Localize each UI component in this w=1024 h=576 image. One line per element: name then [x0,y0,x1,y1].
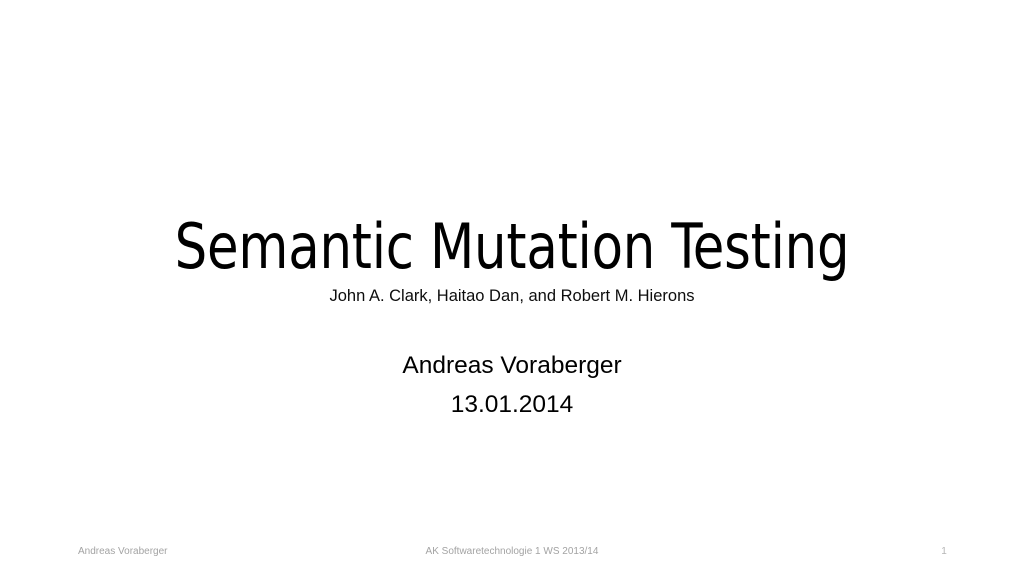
subtitle-placeholder: Andreas Voraberger 13.01.2014 [0,347,1024,424]
slide-number: 1 [864,544,1024,560]
presentation-date: 13.01.2014 [0,386,1024,425]
presentation-slide: Semantic Mutation Testing John A. Clark,… [0,0,1024,576]
paper-authors: John A. Clark, Haitao Dan, and Robert M.… [0,287,1024,307]
page-title: Semantic Mutation Testing [41,214,983,281]
presenter-name: Andreas Voraberger [0,347,1024,386]
slide-footer: Andreas Voraberger AK Softwaretechnologi… [0,544,1024,560]
title-placeholder: Semantic Mutation Testing John A. Clark,… [0,214,1024,307]
